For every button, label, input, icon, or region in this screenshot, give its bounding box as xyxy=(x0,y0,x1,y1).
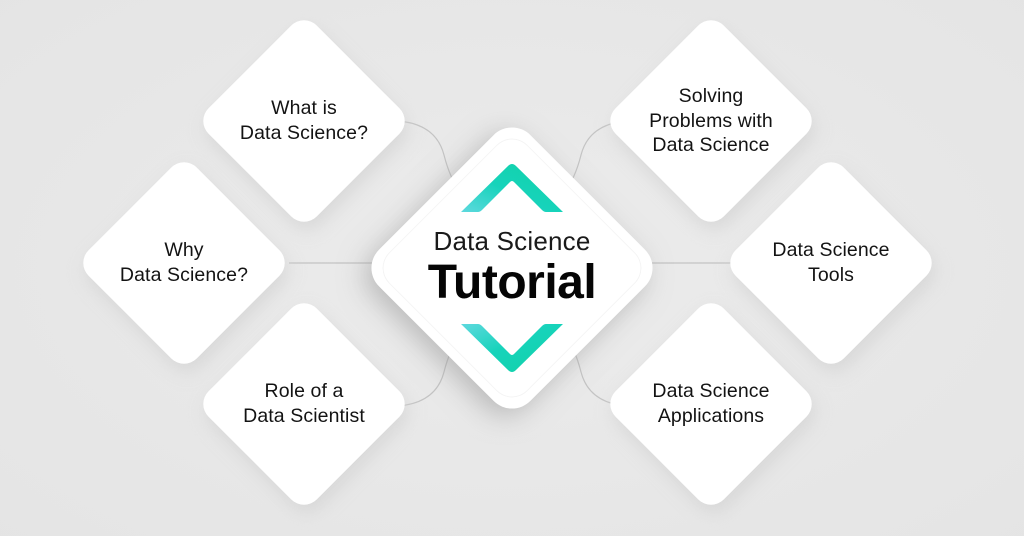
chevron-up-icon xyxy=(456,162,568,214)
center-title: Data Science xyxy=(433,228,590,255)
infographic-canvas: What is Data Science? Why Data Science? … xyxy=(0,0,1024,536)
center-hub-diamond[interactable]: Data Science Tutorial xyxy=(347,103,677,433)
center-subtitle: Tutorial xyxy=(428,257,596,310)
center-content: Data Science Tutorial xyxy=(387,162,637,373)
chevron-down-icon xyxy=(456,322,568,374)
